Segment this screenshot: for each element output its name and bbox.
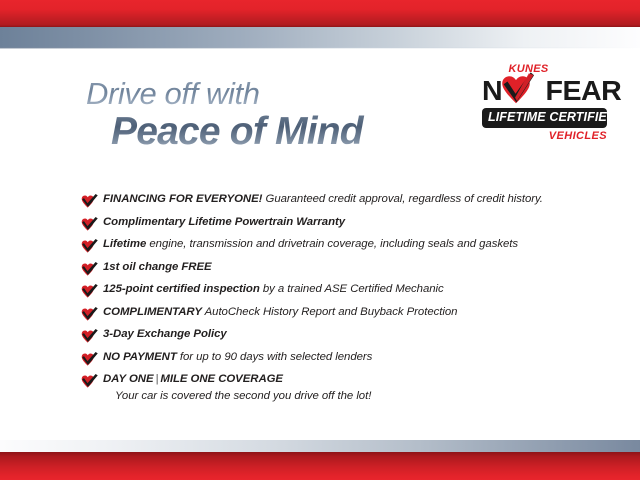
top-gray-band [0, 27, 640, 48]
heart-check-icon [80, 328, 99, 344]
peace-of-mind-banner: Drive off with Peace of Mind KUNES NOOFE… [0, 0, 640, 480]
list-item: 1st oil change FREE [80, 260, 580, 277]
heart-check-icon [80, 351, 99, 367]
logo-certified-bar: LIFETIME CERTIFIED [482, 108, 607, 128]
list-item-normal: AutoCheck History Report and Buyback Pro… [202, 306, 458, 318]
list-item-text: 1st oil change FREE [103, 260, 212, 275]
list-item-text: NO PAYMENT for up to 90 days with select… [103, 350, 372, 365]
list-item-normal: by a trained ASE Certified Mechanic [260, 283, 444, 295]
list-item: DAY ONE|MILE ONE COVERAGEYour car is cov… [80, 372, 580, 403]
list-item-bold: DAY ONE [103, 373, 154, 385]
logo-vehicles-text: VEHICLES [482, 131, 607, 142]
list-item-bold: Complimentary Lifetime Powertrain Warran… [103, 216, 345, 228]
logo-letter-n: N [482, 75, 502, 106]
list-item: NO PAYMENT for up to 90 days with select… [80, 350, 580, 367]
heart-check-icon [80, 193, 99, 209]
logo-no-fear-wordmark: NOOFEAR [482, 76, 607, 106]
headline: Drive off with Peace of Mind [86, 78, 486, 151]
logo-word-fear: FEAR [546, 75, 622, 106]
benefits-list: FINANCING FOR EVERYONE! Guaranteed credi… [80, 192, 580, 409]
heart-check-icon [80, 238, 99, 254]
list-item-normal: for up to 90 days with selected lenders [177, 351, 373, 363]
list-item-bold: COMPLIMENTARY [103, 306, 202, 318]
logo-certified-text: LIFETIME CERTIFIED [488, 111, 602, 124]
list-item-text: Lifetime engine, transmission and drivet… [103, 237, 518, 252]
top-gray-band-edge [0, 47, 640, 49]
kunes-no-fear-logo: KUNES NOOFEAR LIFETIME CERTIFIED VEHICLE… [482, 64, 607, 142]
list-item-text: Complimentary Lifetime Powertrain Warran… [103, 215, 345, 230]
list-item-bold: NO PAYMENT [103, 351, 177, 363]
logo-no-fear-text: NOOFEAR [482, 76, 610, 106]
list-item-text: 3-Day Exchange Policy [103, 327, 227, 342]
list-item: COMPLIMENTARY AutoCheck History Report a… [80, 305, 580, 322]
headline-line-1: Drive off with [86, 78, 486, 110]
list-item-bold-2: MILE ONE COVERAGE [160, 373, 283, 385]
list-item-bold: 3-Day Exchange Policy [103, 328, 227, 340]
heart-check-icon [80, 306, 99, 322]
logo-brand-kunes: KUNES [482, 64, 607, 75]
list-item-bold: 1st oil change FREE [103, 261, 212, 273]
list-item-text: DAY ONE|MILE ONE COVERAGEYour car is cov… [103, 372, 371, 403]
list-item-subtext: Your car is covered the second you drive… [115, 389, 371, 404]
list-item: 3-Day Exchange Policy [80, 327, 580, 344]
list-item-bold: Lifetime [103, 238, 146, 250]
heart-check-icon [80, 261, 99, 277]
list-item-text: 125-point certified inspection by a trai… [103, 282, 444, 297]
list-item-bold: FINANCING FOR EVERYONE! [103, 193, 262, 205]
list-item-bold: 125-point certified inspection [103, 283, 260, 295]
list-item: Lifetime engine, transmission and drivet… [80, 237, 580, 254]
list-item: Complimentary Lifetime Powertrain Warran… [80, 215, 580, 232]
top-red-band [0, 0, 640, 27]
list-item-normal: Guaranteed credit approval, regardless o… [262, 193, 543, 205]
list-item-normal: engine, transmission and drivetrain cove… [146, 238, 518, 250]
list-item: FINANCING FOR EVERYONE! Guaranteed credi… [80, 192, 580, 209]
bottom-red-band [0, 452, 640, 480]
headline-line-2: Peace of Mind [111, 112, 486, 152]
heart-check-icon [80, 373, 99, 389]
heart-check-icon [80, 216, 99, 232]
heart-check-icon [80, 283, 99, 299]
list-item-text: FINANCING FOR EVERYONE! Guaranteed credi… [103, 192, 543, 207]
list-item: 125-point certified inspection by a trai… [80, 282, 580, 299]
list-item-text: COMPLIMENTARY AutoCheck History Report a… [103, 305, 457, 320]
